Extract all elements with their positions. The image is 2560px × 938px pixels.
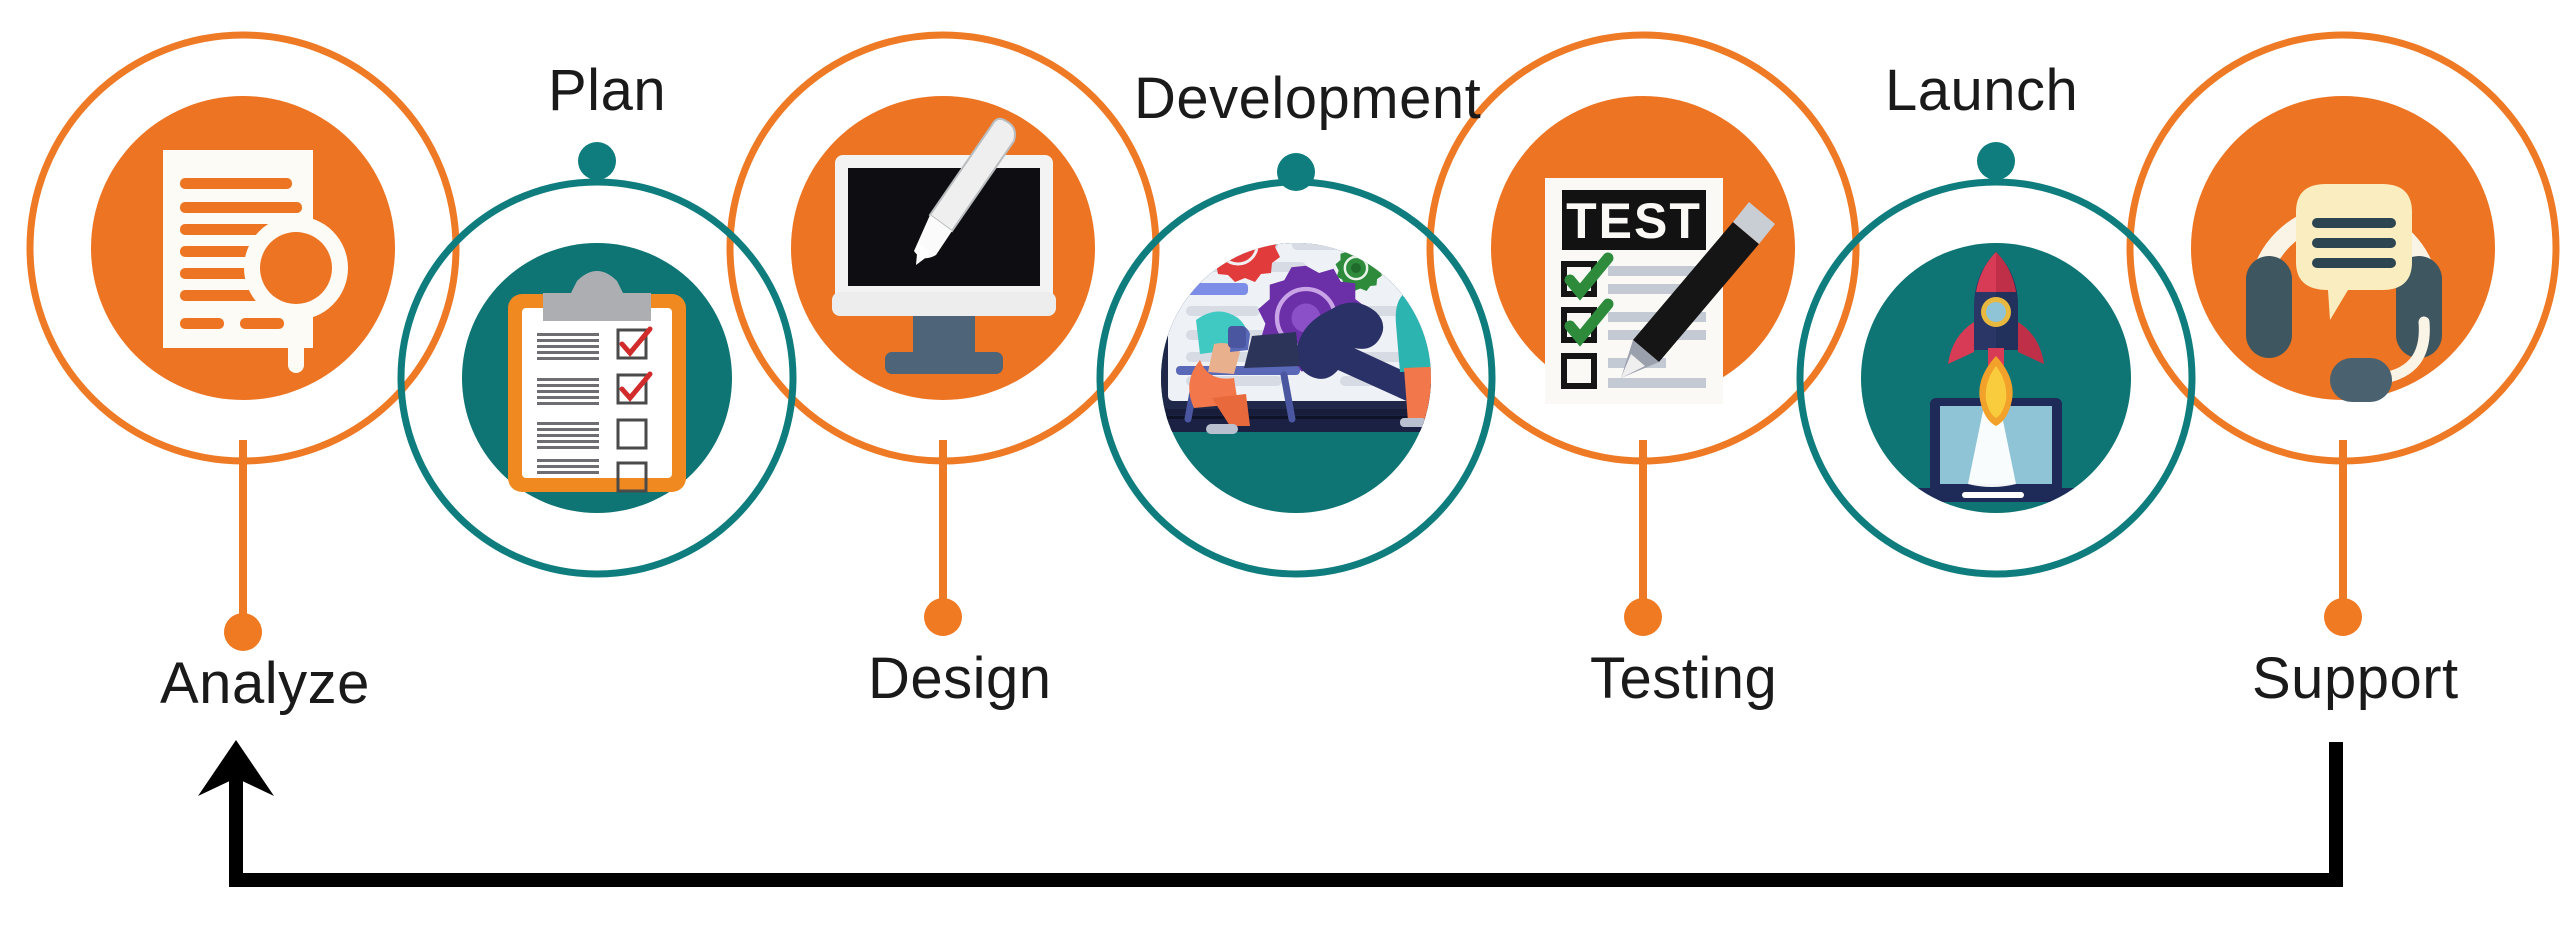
stage-label-analyze: Analyze <box>160 655 370 713</box>
stage-label-design: Design <box>868 650 1052 708</box>
stage-support[interactable] <box>2191 96 2495 402</box>
stage-label-testing: Testing <box>1590 650 1777 708</box>
stage-testing[interactable]: TEST <box>1491 96 1795 404</box>
stage-label-launch: Launch <box>1885 62 2078 120</box>
stage-launch[interactable] <box>1861 243 2131 513</box>
stage-plan[interactable] <box>462 243 732 513</box>
diagram-canvas: TEST <box>0 0 2560 938</box>
connector-dot-support <box>2324 598 2362 636</box>
feedback-arrow <box>198 740 2336 880</box>
connector-dot-launch <box>1977 142 2015 180</box>
stage-label-support: Support <box>2252 650 2459 708</box>
clipboard-checklist-icon <box>508 271 686 492</box>
connector-dot-analyze <box>224 613 262 651</box>
sdlc-diagram: TEST <box>0 0 2560 938</box>
stage-development[interactable] <box>1149 209 1464 513</box>
stage-design[interactable] <box>791 96 1095 400</box>
connector-dot-development <box>1277 153 1315 191</box>
stage-analyze[interactable] <box>91 96 395 400</box>
connector-dot-testing <box>1624 598 1662 636</box>
connector-dot-plan <box>578 142 616 180</box>
stage-label-development: Development <box>1134 70 1481 128</box>
connector-dot-design <box>924 598 962 636</box>
stage-label-plan: Plan <box>548 62 666 120</box>
laptop-gears-devs-icon <box>1149 209 1464 434</box>
test-sheet-heading: TEST <box>1566 193 1702 249</box>
